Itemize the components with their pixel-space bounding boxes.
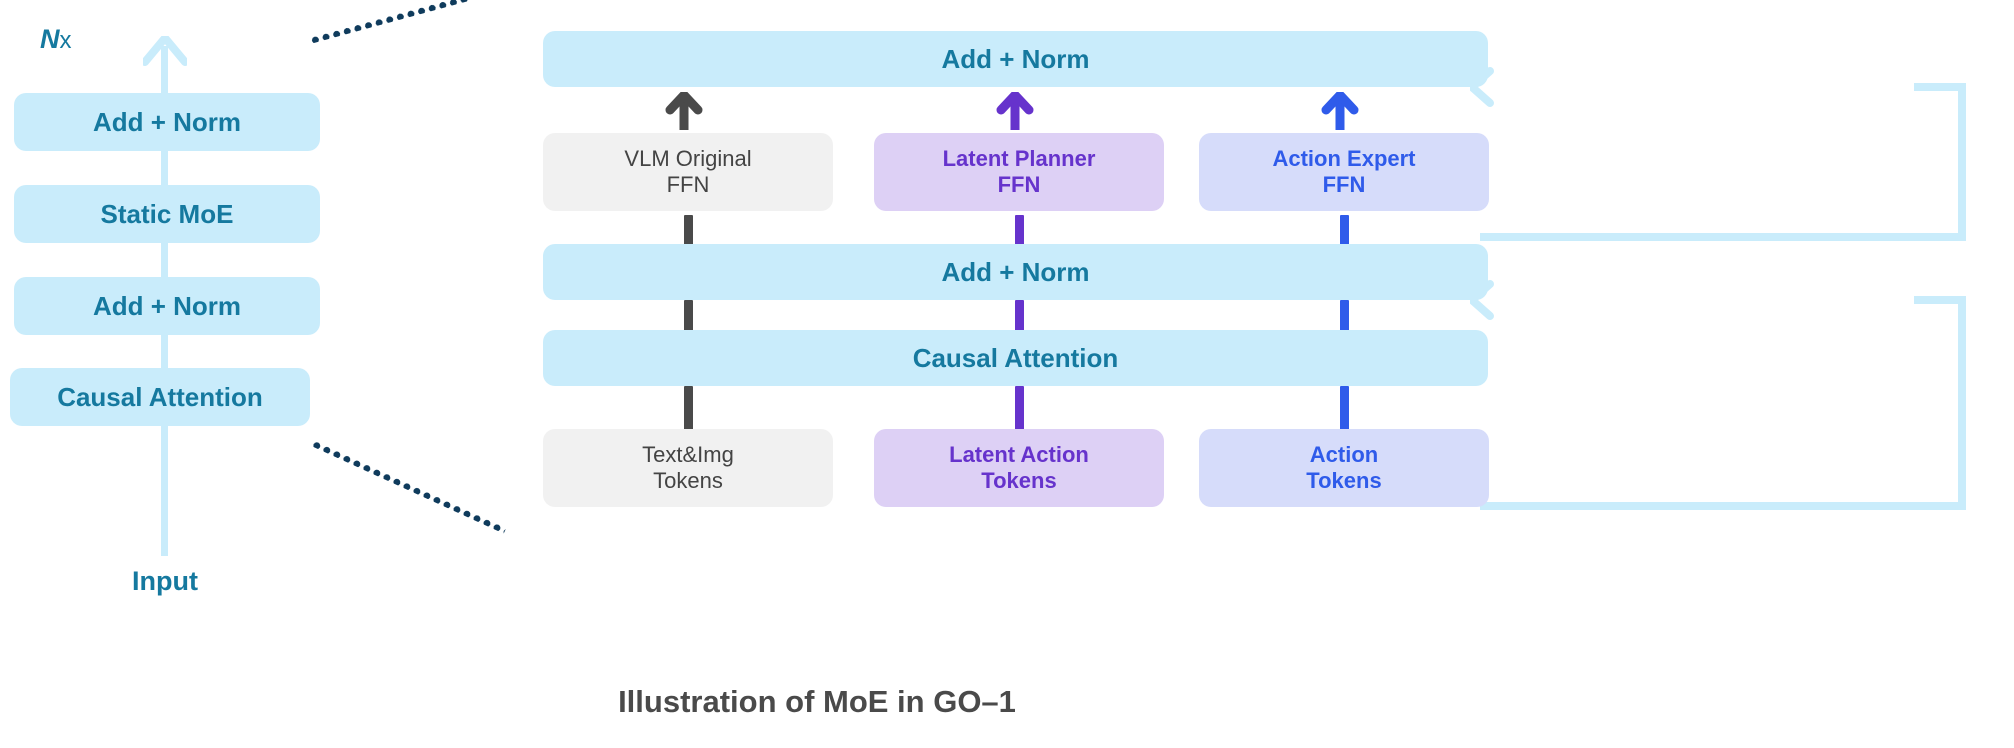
arrow-up-col3	[1320, 92, 1360, 130]
left-block-causal-attention[interactable]: Causal Attention	[10, 368, 310, 426]
ffn-vlm-line1: VLM Original	[624, 146, 751, 171]
repeat-count-n: N	[40, 24, 60, 54]
token-box-latent-action[interactable]: Latent Action Tokens	[874, 429, 1164, 507]
expansion-guide-top	[309, 0, 547, 44]
moe-architecture-diagram: Nx Add + Norm Static MoE Add + Norm Caus…	[0, 0, 2014, 748]
token-box-text-img[interactable]: Text&Img Tokens	[543, 429, 833, 507]
token-textimg-line1: Text&Img	[642, 442, 734, 467]
connector-tokens-to-causal-col1	[684, 386, 693, 434]
ffn-box-vlm-original[interactable]: VLM Original FFN	[543, 133, 833, 211]
token-textimg-line2: Tokens	[653, 468, 723, 493]
token-box-action[interactable]: Action Tokens	[1199, 429, 1489, 507]
diagram-caption: Illustration of MoE in GO–1	[0, 684, 2014, 720]
left-block-static-moe[interactable]: Static MoE	[14, 185, 320, 243]
token-action-line1: Action	[1310, 442, 1378, 467]
residual-loop-lower	[1470, 238, 2014, 528]
right-bar-add-norm-mid[interactable]: Add + Norm	[543, 244, 1488, 300]
left-block-add-norm-lower[interactable]: Add + Norm	[14, 277, 320, 335]
ffn-planner-line2: FFN	[998, 172, 1041, 197]
connector-tokens-to-causal-col3	[1340, 386, 1349, 434]
token-latent-line1: Latent Action	[949, 442, 1089, 467]
ffn-action-line1: Action Expert	[1272, 146, 1415, 171]
right-bar-add-norm-top[interactable]: Add + Norm	[543, 31, 1488, 87]
ffn-planner-line1: Latent Planner	[943, 146, 1096, 171]
arrow-up-col1	[664, 92, 704, 130]
token-action-line2: Tokens	[1306, 468, 1381, 493]
token-latent-line2: Tokens	[981, 468, 1056, 493]
ffn-action-line2: FFN	[1323, 172, 1366, 197]
expansion-guide-bottom	[311, 440, 506, 533]
ffn-box-latent-planner[interactable]: Latent Planner FFN	[874, 133, 1164, 211]
arrow-up-col2	[995, 92, 1035, 130]
right-bar-causal-attention[interactable]: Causal Attention	[543, 330, 1488, 386]
repeat-count-x: x	[60, 27, 72, 54]
ffn-vlm-line2: FFN	[667, 172, 710, 197]
left-flow-arrowhead	[143, 36, 187, 66]
ffn-box-action-expert[interactable]: Action Expert FFN	[1199, 133, 1489, 211]
input-label: Input	[60, 566, 270, 597]
connector-tokens-to-causal-col2	[1015, 386, 1024, 434]
repeat-count-label: Nx	[40, 24, 72, 55]
diagram-caption-text: Illustration of MoE in GO–1	[618, 684, 1016, 720]
left-block-add-norm-upper[interactable]: Add + Norm	[14, 93, 320, 151]
